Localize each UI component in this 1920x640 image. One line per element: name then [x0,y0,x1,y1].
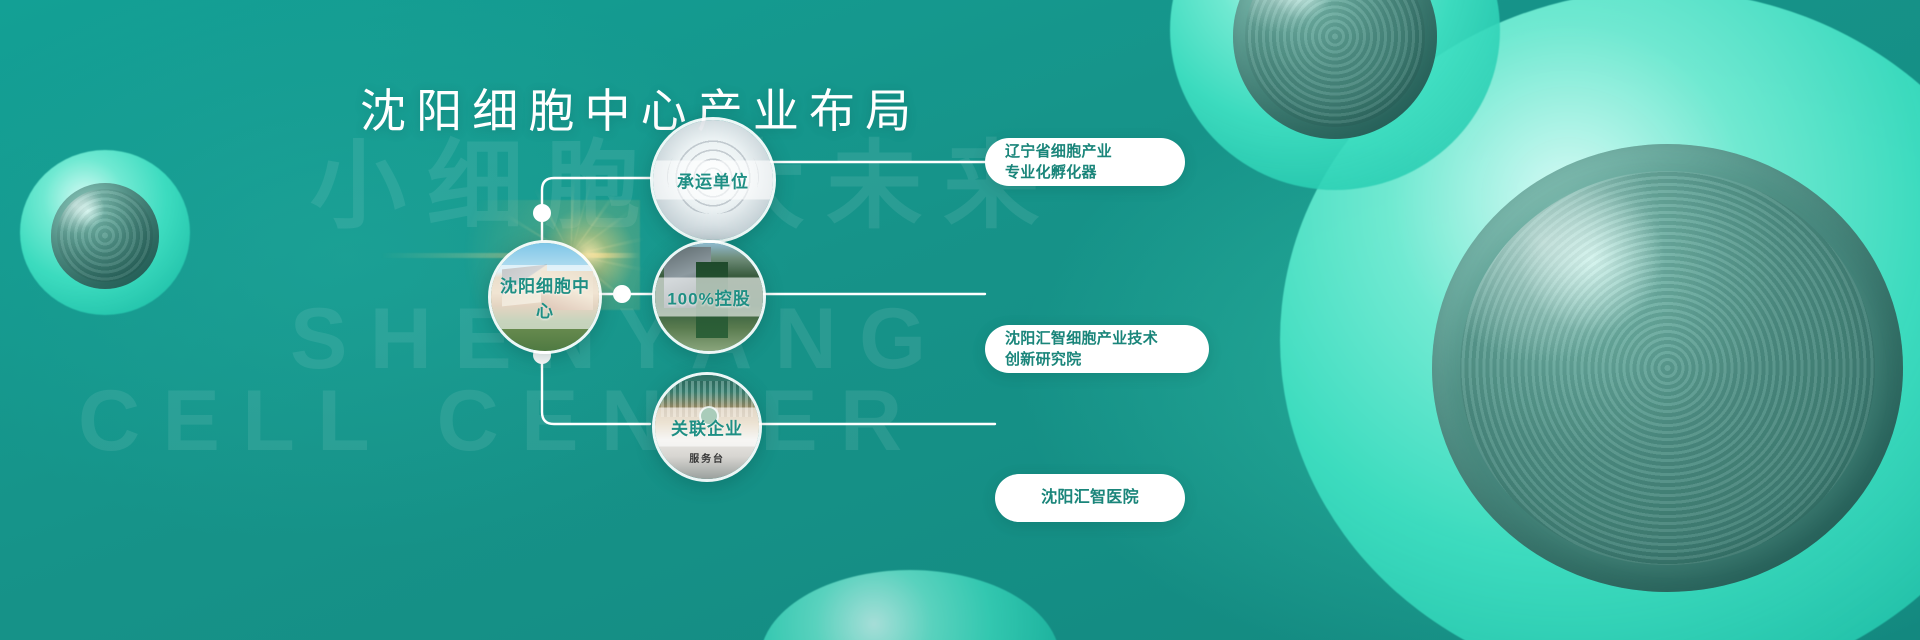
junction-dot-middle [613,285,631,303]
callout-hospital-text: 沈阳汇智医院 [1041,487,1139,510]
branch-node-label-bottom: 关联企业 [655,408,759,447]
callout-hospital[interactable]: 沈阳汇智医院 [995,474,1185,522]
callout-incubator[interactable]: 辽宁省细胞产业 专业化孵化器 [985,138,1185,186]
callout-research-institute-text: 沈阳汇智细胞产业技术 创新研究院 [1005,328,1158,371]
connector-lines [0,0,1920,640]
callout-incubator-text: 辽宁省细胞产业 专业化孵化器 [1005,141,1112,184]
center-node-label: 沈阳细胞中心 [491,265,599,329]
branch-node-full-holding[interactable]: 100%控股 [652,240,766,354]
branch-node-affiliated-enterprise[interactable]: 关联企业 服务台 [652,372,762,482]
branch-node-carrier-unit[interactable]: 承运单位 [650,117,776,243]
branch-node-label-top: 承运单位 [653,161,773,200]
center-node-shenyang-cell-center[interactable]: 沈阳细胞中心 [488,240,602,354]
callout-research-institute[interactable]: 沈阳汇智细胞产业技术 创新研究院 [985,325,1209,373]
banner-stage: 小细胞 大未来 SHENYANG CELL CENTER 沈阳细胞中心产业布局 [0,0,1920,640]
branch-node-sublabel-bottom: 服务台 [655,450,759,465]
junction-dot-top [533,204,551,222]
branch-node-label-middle: 100%控股 [655,278,763,317]
